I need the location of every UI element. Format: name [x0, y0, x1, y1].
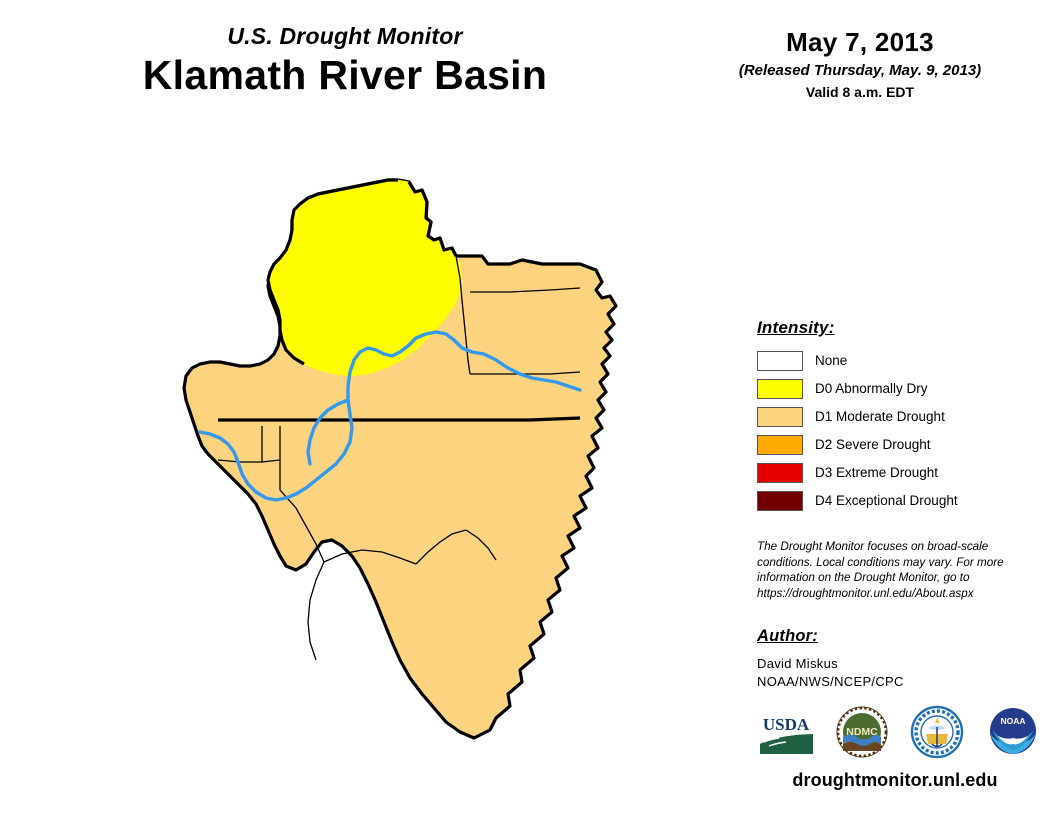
legend-swatch-d0 [757, 379, 803, 399]
ndmc-logo[interactable]: NDMC [833, 704, 891, 760]
author-name: David Miskus [757, 655, 1037, 673]
region-title: Klamath River Basin [0, 53, 690, 99]
noaa-commerce-seal-logo[interactable] [908, 704, 966, 760]
legend-label-none: None [815, 354, 847, 368]
legend-label-d4: D4 Exceptional Drought [815, 494, 958, 508]
svg-text:USDA: USDA [763, 715, 810, 734]
legend-label-d0: D0 Abnormally Dry [815, 382, 928, 396]
author-affiliation: NOAA/NWS/NCEP/CPC [757, 673, 1037, 691]
disclaimer-text: The Drought Monitor focuses on broad-sca… [757, 539, 1019, 601]
valid-date: May 7, 2013 [690, 28, 1030, 58]
legend-label-d1: D1 Moderate Drought [815, 410, 945, 424]
intensity-legend: Intensity: None D0 Abnormally Dry D1 Mod… [757, 318, 1037, 517]
legend-swatch-none [757, 351, 803, 371]
footer-url[interactable]: droughtmonitor.unl.edu [735, 770, 1055, 791]
svg-text:NDMC: NDMC [846, 726, 878, 738]
svg-text:NOAA: NOAA [1000, 716, 1025, 726]
valid-time: Valid 8 a.m. EDT [690, 84, 1030, 100]
page-title: U.S. Drought Monitor Klamath River Basin [0, 24, 690, 99]
legend-swatch-d4 [757, 491, 803, 511]
program-subtitle: U.S. Drought Monitor [0, 24, 690, 49]
legend-label-d2: D2 Severe Drought [815, 438, 931, 452]
legend-item-d1[interactable]: D1 Moderate Drought [757, 405, 1037, 429]
author-block: Author: David Miskus NOAA/NWS/NCEP/CPC [757, 627, 1037, 692]
legend-item-none[interactable]: None [757, 349, 1037, 373]
legend-swatch-d2 [757, 435, 803, 455]
legend-item-d0[interactable]: D0 Abnormally Dry [757, 377, 1037, 401]
legend-label-d3: D3 Extreme Drought [815, 466, 938, 480]
partner-logos: USDA NDMC [757, 703, 1042, 761]
noaa-logo[interactable]: NOAA [984, 704, 1042, 760]
release-date: (Released Thursday, May. 9, 2013) [690, 62, 1030, 79]
legend-item-d3[interactable]: D3 Extreme Drought [757, 461, 1037, 485]
author-heading: Author: [757, 627, 1037, 646]
drought-map [110, 160, 690, 760]
legend-swatch-d1 [757, 407, 803, 427]
legend-item-d2[interactable]: D2 Severe Drought [757, 433, 1037, 457]
date-block: May 7, 2013 (Released Thursday, May. 9, … [690, 28, 1030, 100]
legend-swatch-d3 [757, 463, 803, 483]
usda-logo[interactable]: USDA [757, 704, 815, 760]
legend-heading: Intensity: [757, 318, 1037, 338]
legend-item-d4[interactable]: D4 Exceptional Drought [757, 489, 1037, 513]
